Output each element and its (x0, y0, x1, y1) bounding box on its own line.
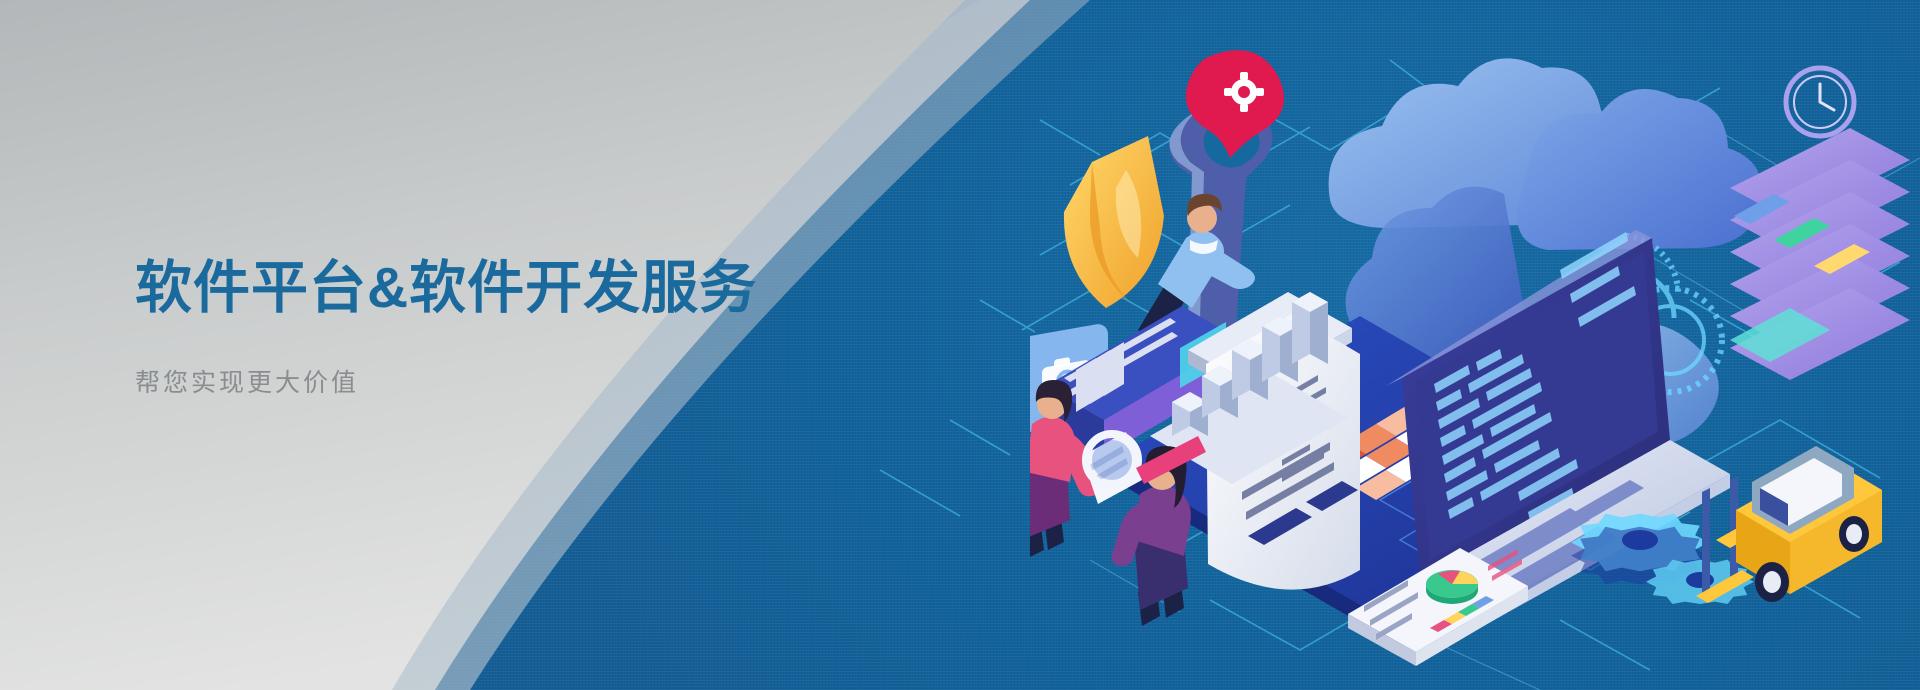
page-subtitle: 帮您实现更大价值 (135, 363, 895, 399)
shield-icon (1064, 136, 1164, 308)
page-title: 软件平台&软件开发服务 (135, 255, 895, 321)
kanban-panel (1730, 128, 1910, 380)
hero-banner: 软件平台&软件开发服务 帮您实现更大价值 (0, 0, 1920, 690)
hero-illustration (1030, 40, 1920, 690)
copy-block: 软件平台&软件开发服务 帮您实现更大价值 (135, 255, 895, 399)
pie-chart-icon (1426, 570, 1478, 604)
clock-icon (1786, 68, 1854, 136)
